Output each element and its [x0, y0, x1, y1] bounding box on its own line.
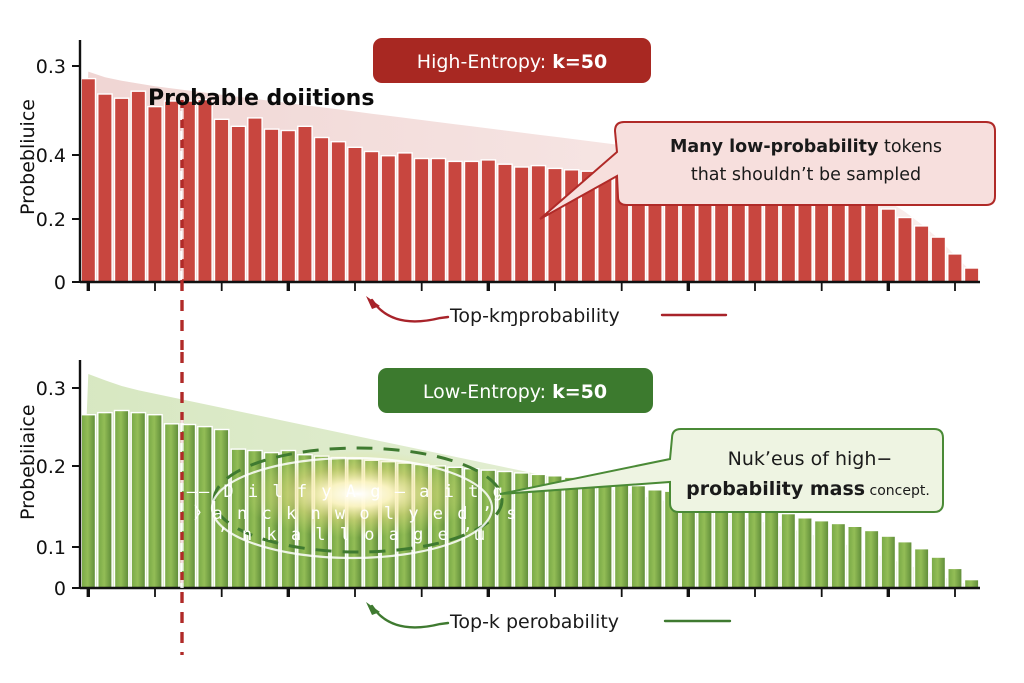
bar — [848, 526, 862, 588]
y-axis-label-panel1: Probebliuice — [17, 99, 39, 215]
bar — [315, 138, 329, 283]
bar — [648, 490, 662, 588]
bar — [115, 98, 129, 282]
bar — [548, 476, 562, 588]
bar — [231, 126, 245, 282]
bar — [348, 147, 362, 282]
curved-arrow-panel1 — [372, 300, 448, 321]
bar — [165, 101, 179, 282]
bar — [848, 198, 862, 282]
y-tick-label: 0.2 — [36, 456, 66, 478]
y-tick-label: 0 — [54, 272, 66, 294]
bar — [598, 173, 612, 282]
bar — [531, 166, 545, 282]
bar — [148, 415, 162, 588]
x-tick-group-panel1 — [88, 282, 955, 291]
bar — [98, 94, 112, 282]
bar — [331, 142, 345, 282]
panel-high-entropy: 0.30.40.20 Probebliuice Probable doiitio… — [17, 38, 995, 350]
bar — [98, 413, 112, 588]
bar — [815, 521, 829, 588]
bar — [965, 268, 979, 282]
bar — [131, 413, 145, 588]
bar — [565, 477, 579, 588]
badge-low-entropy: Low-Entropy: k=50 — [378, 368, 653, 413]
bar — [881, 209, 895, 282]
callout-line1-panel2: Nukʼeus of high− — [728, 448, 893, 470]
bar — [515, 167, 529, 282]
bar — [465, 161, 479, 282]
bar — [398, 153, 412, 282]
bar — [698, 504, 712, 588]
bar — [731, 505, 745, 588]
bar — [131, 91, 145, 282]
bar — [481, 160, 495, 282]
bar — [765, 509, 779, 588]
bar — [298, 126, 312, 282]
y-tick-label: 0.3 — [36, 378, 66, 400]
bar — [581, 479, 595, 588]
figure-canvas: 0.30.40.20 Probebliuice Probable doiitio… — [0, 0, 1024, 683]
chart-figure: 0.30.40.20 Probebliuice Probable doiitio… — [0, 0, 1024, 683]
topk-annotation-label-panel1: Top-kɱprobability — [449, 305, 620, 327]
bar — [781, 514, 795, 588]
bar — [898, 542, 912, 588]
bar — [831, 524, 845, 589]
badge-label-panel1: High-Entropy: k=50 — [417, 51, 607, 73]
badge-label-panel2: Low-Entropy: k=50 — [423, 381, 607, 403]
y-tick-label: 0.4 — [36, 145, 66, 167]
bar — [498, 164, 512, 282]
bar — [615, 481, 629, 588]
bar — [898, 218, 912, 283]
bar — [81, 79, 95, 282]
bar — [915, 549, 929, 588]
bar — [215, 119, 229, 282]
bar — [931, 237, 945, 282]
y-tick-label: 0.1 — [36, 537, 66, 559]
y-tick-label: 0 — [54, 578, 66, 600]
bar — [798, 518, 812, 588]
x-tick-group-panel2 — [88, 588, 955, 597]
nucleus-text-line3: ʼ n k a l l o a g e ʼɯ — [217, 525, 486, 545]
y-tick-label: 0.2 — [36, 209, 66, 231]
bottom-annotation-panel2: Top-k perobability — [366, 602, 730, 633]
bar — [715, 505, 729, 588]
bar — [948, 254, 962, 282]
bar — [865, 531, 879, 589]
nucleus-text-line2: 〉a n c k n w o l y e d ʼ s — [194, 504, 519, 524]
bar — [365, 152, 379, 283]
bar — [431, 159, 445, 283]
bottom-annotation-panel1: Top-kɱprobability — [366, 296, 726, 327]
bar — [548, 168, 562, 282]
bar — [931, 557, 945, 588]
curved-arrow-panel2 — [372, 606, 448, 627]
bar — [831, 195, 845, 282]
bar — [948, 568, 962, 588]
bar — [198, 100, 212, 282]
bar — [415, 159, 429, 283]
bar — [115, 411, 129, 589]
bar — [248, 118, 262, 282]
bar — [915, 226, 929, 282]
y-tick-group-panel2: 0.30.20.10 — [36, 378, 80, 600]
topk-annotation-label-panel2: Top-k perobability — [449, 611, 619, 633]
panel-low-entropy: 0.30.20.10 Probebiiaice —— D i l f y A g… — [17, 352, 980, 655]
bar — [448, 161, 462, 282]
y-tick-group-panel1: 0.30.40.20 — [36, 56, 80, 294]
bar — [381, 156, 395, 282]
bar — [881, 536, 895, 588]
callout-line1-panel1: Many low-probability tokens — [670, 137, 942, 157]
y-tick-label: 0.3 — [36, 56, 66, 78]
bar — [748, 507, 762, 588]
bar — [631, 486, 645, 588]
callout-line2-panel1: that shouldn’t be sampled — [691, 165, 921, 185]
y-axis-label-panel2: Probebiiaice — [17, 404, 39, 520]
probable-region-header: Probable doiitions — [148, 86, 374, 111]
bar — [81, 415, 95, 588]
nucleus-text-line1: —— D i l f y A g – a i t g – — [187, 482, 530, 502]
bar — [265, 129, 279, 282]
bar — [865, 202, 879, 282]
bar — [148, 107, 162, 282]
bar — [598, 480, 612, 588]
bar — [165, 424, 179, 588]
bar — [281, 131, 295, 283]
badge-high-entropy: High-Entropy: k=50 — [373, 38, 651, 83]
